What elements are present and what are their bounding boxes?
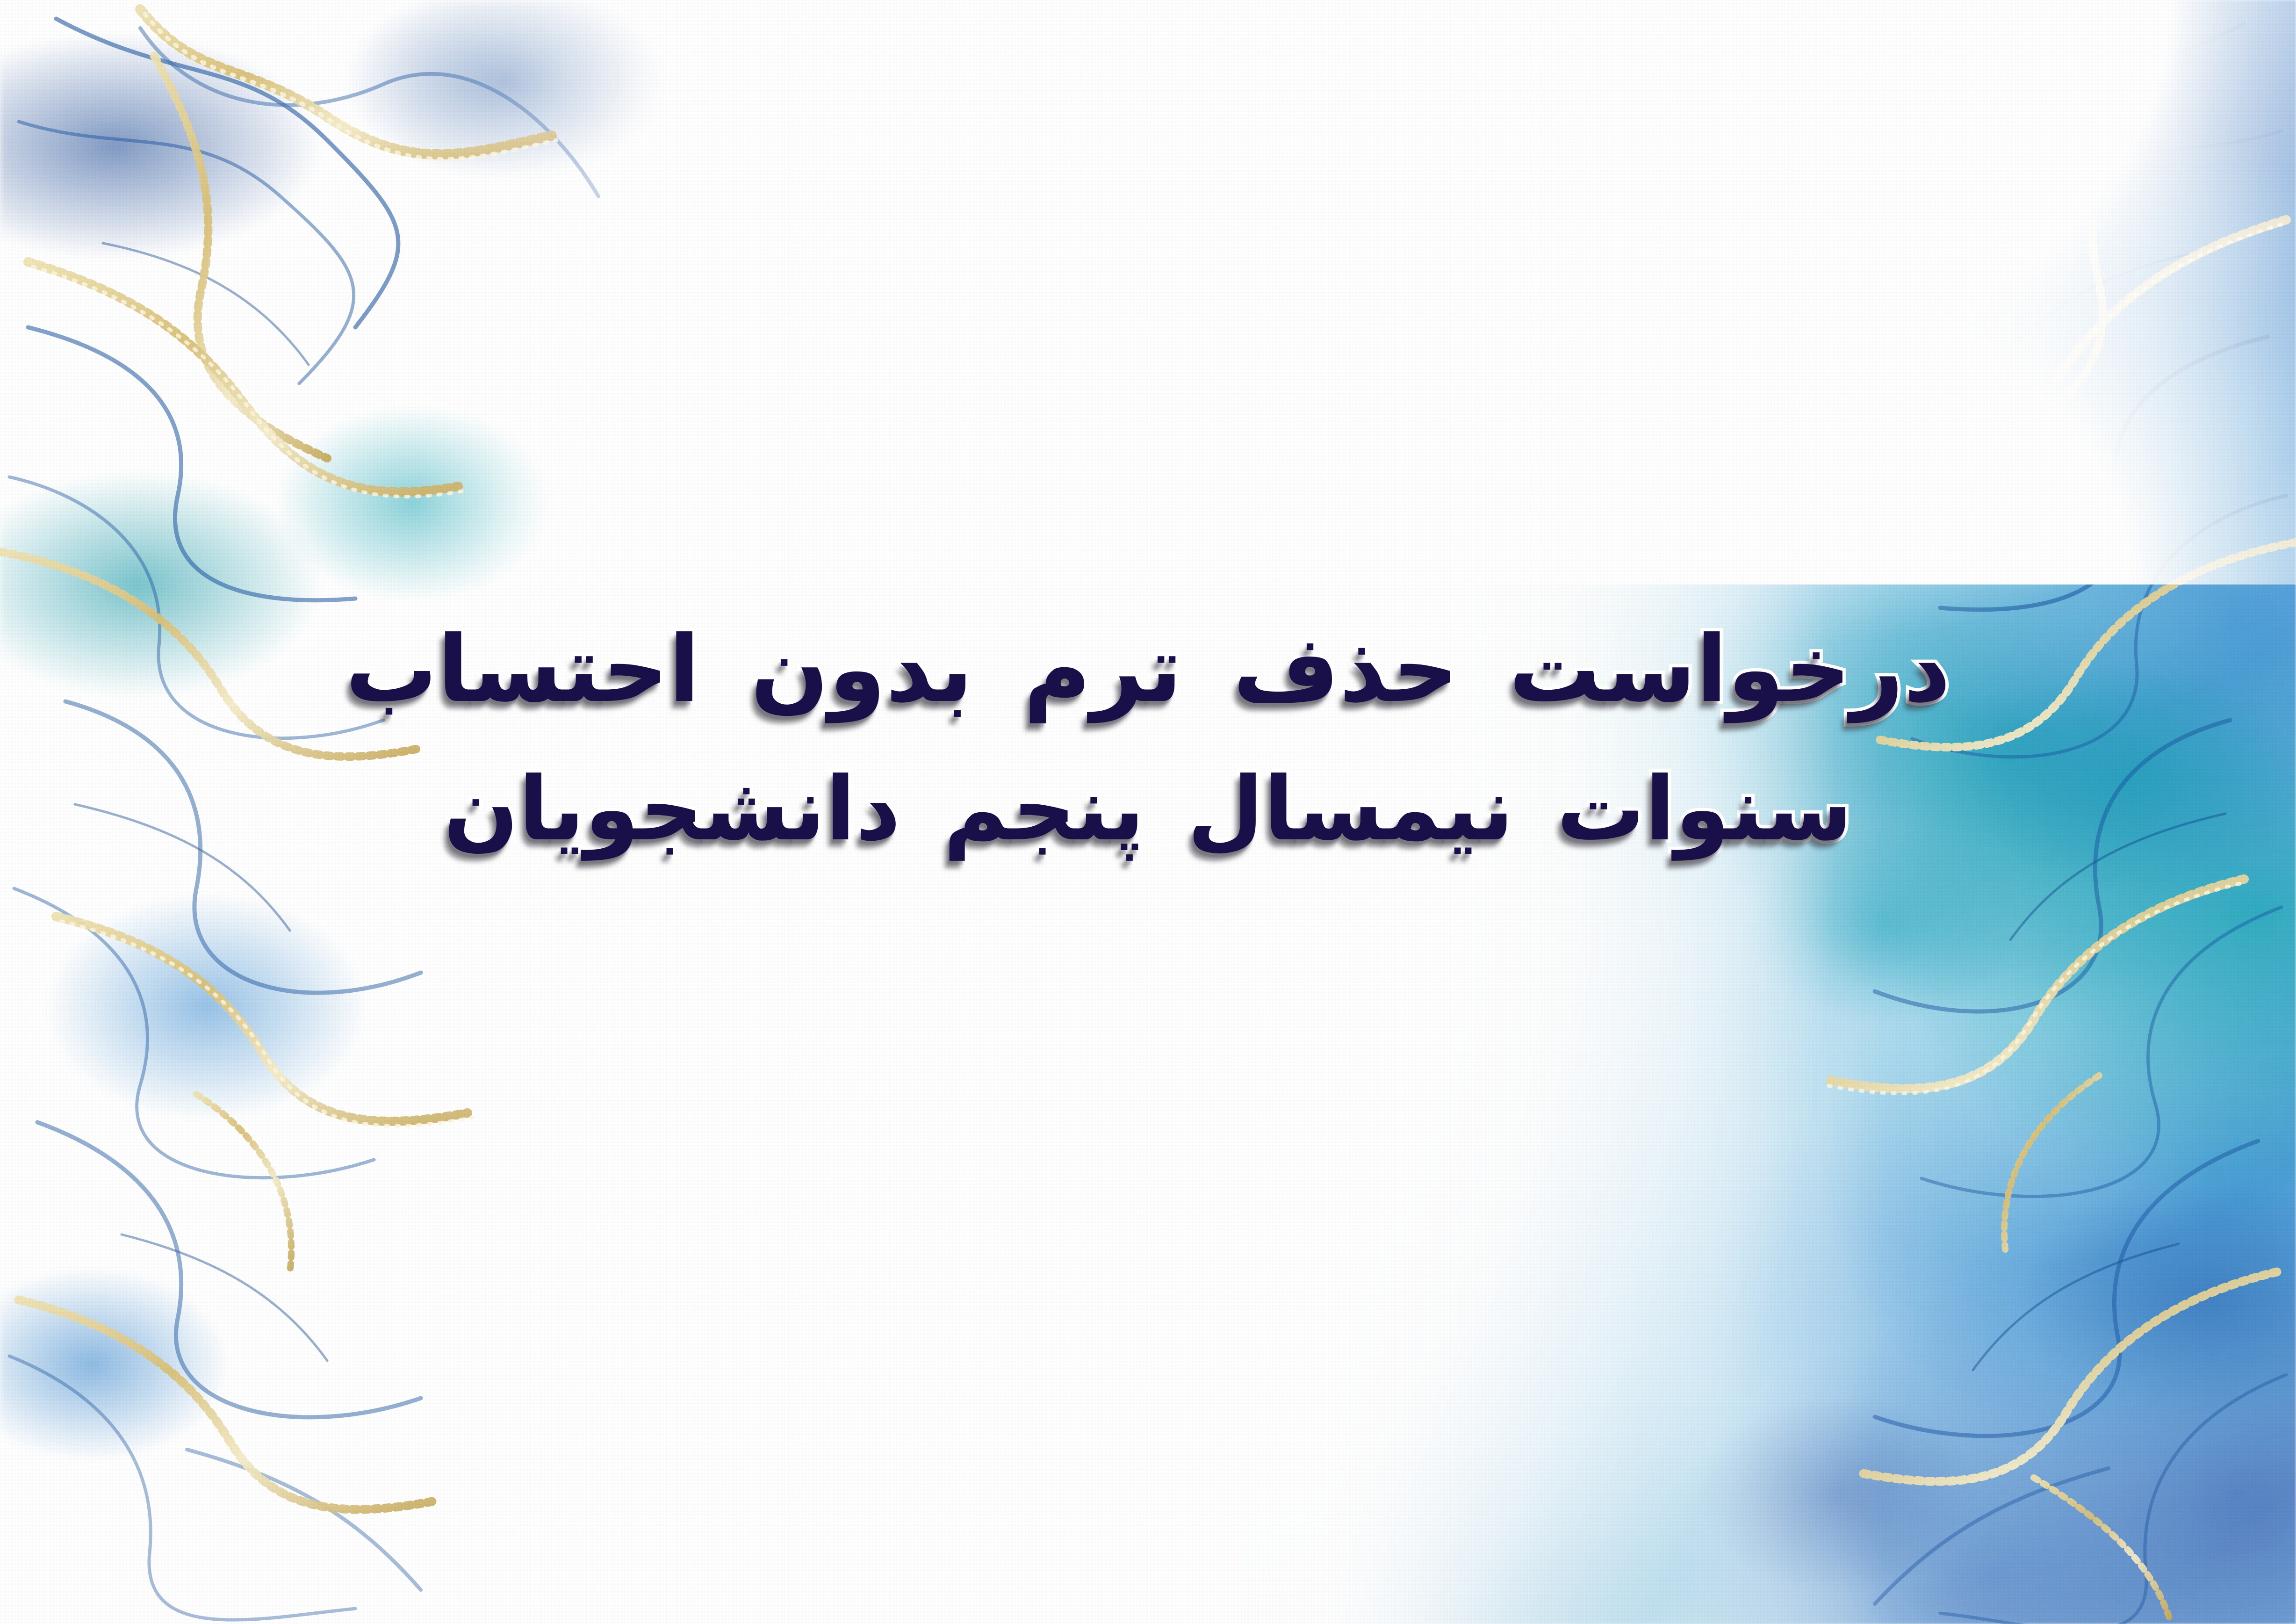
slide-title: درخواست حذف ترم بدون احتساب سنوات نیمسال… [0,622,2296,855]
title-line-1: درخواست حذف ترم بدون احتساب [0,622,2296,718]
center-veil-bottom [1194,0,2296,585]
slide-canvas: درخواست حذف ترم بدون احتساب سنوات نیمسال… [0,0,2296,1624]
center-veil-top [1194,0,2296,650]
title-line-2: سنوات نیمسال پنجم دانشجویان [0,763,2296,855]
